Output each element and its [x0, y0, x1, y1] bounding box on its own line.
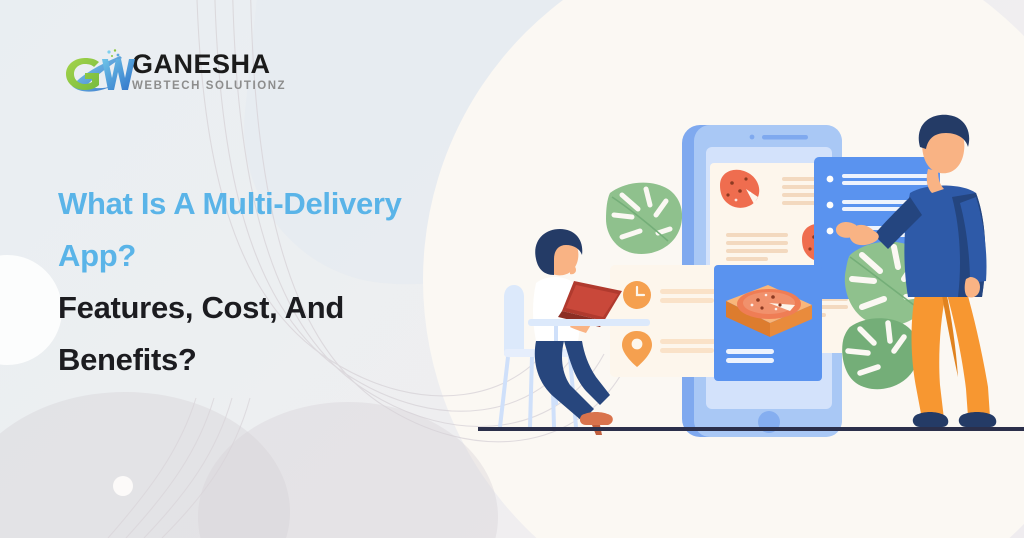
gw-monogram-icon [58, 48, 136, 96]
headline-line-4: Benefits? [58, 334, 498, 386]
headline-line-3: Features, Cost, And [58, 282, 498, 334]
logo-title: GANESHA [132, 51, 286, 78]
monstera-leaf-right-lower [842, 318, 919, 389]
logo-subtitle: WEBTECH SOLUTIONZ [132, 81, 286, 93]
headline-line-1: What Is A Multi-Delivery [58, 178, 498, 230]
grey-blob-shape-center [198, 402, 498, 538]
grey-blob-shape-left [0, 392, 290, 538]
headline-block: What Is A Multi-Delivery App? Features, … [58, 178, 498, 386]
hero-banner: GANESHA WEBTECH SOLUTIONZ What Is A Mult… [0, 0, 1024, 538]
white-circle-shape [0, 255, 62, 365]
monstera-leaf-left [606, 183, 682, 254]
pizza-box-card [714, 265, 822, 381]
food-delivery-app-illustration [470, 105, 1024, 450]
headline-line-2: App? [58, 230, 498, 282]
brand-logo[interactable]: GANESHA WEBTECH SOLUTIONZ [58, 48, 286, 96]
speaker-bar [762, 135, 808, 140]
camera-dot [750, 135, 755, 140]
logo-wordmark: GANESHA WEBTECH SOLUTIONZ [132, 51, 286, 93]
ground-line [478, 427, 1024, 431]
white-dot-accent [113, 476, 133, 496]
